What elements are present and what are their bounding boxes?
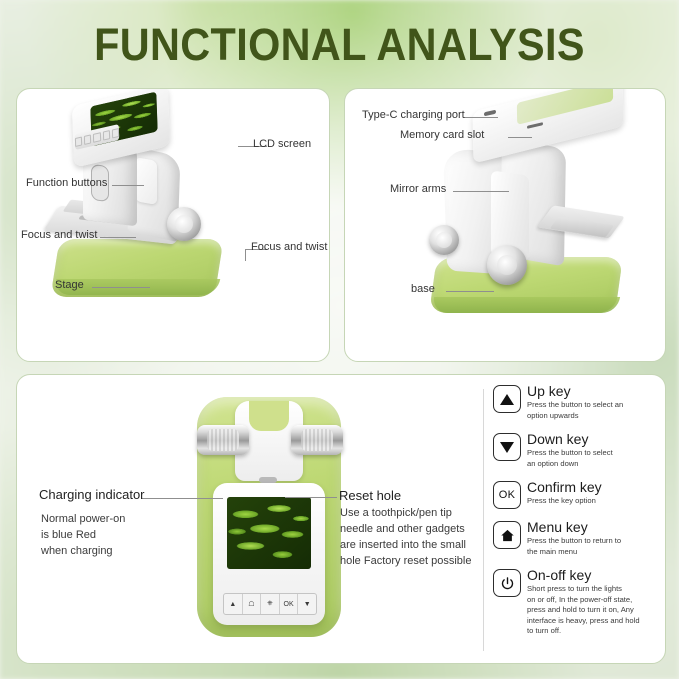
callout-lcd-screen: LCD screen [253,138,311,150]
function-button [102,130,110,141]
leader-line-focus-left [100,237,136,238]
leader-line-base [446,291,494,292]
legend-name-up-key: Up key [527,383,623,399]
legend-text-on-off-key: On-off key Short press to turn the light… [527,567,640,637]
legend-desc-line: Press the button to return to [527,536,621,547]
legend-desc-confirm-key: Press the key option [527,496,602,507]
callout-function-buttons: Function buttons [26,177,107,189]
charging-indicator-title: Charging indicator [39,487,145,502]
charging-indicator-body: Normal power-on is blue Red when chargin… [41,511,125,559]
ok-icon: OK [493,481,521,509]
callout-focus-and-twist-left: Focus and twist [21,229,97,241]
legend-desc-line: press and hold to turn it on, Any [527,605,640,616]
legend-desc-line: Press the button to select an [527,400,623,411]
callout-base: base [411,283,435,295]
legend-text-confirm-key: Confirm key Press the key option [527,479,602,507]
panel-front-view-and-keys: ▲ ☖ ⎈ OK ▼ Charging indicator Normal pow… [16,374,666,664]
microscope-front-illustration: ▲ ☖ ⎈ OK ▼ [191,397,347,643]
legend-name-down-key: Down key [527,431,613,447]
device-home-button: ☖ [243,594,262,614]
callout-stage: Stage [55,279,84,291]
legend-desc-menu-key: Press the button to return to the main m… [527,536,621,557]
device-focus-knob-left [197,425,249,455]
leader-line-reset-hole [285,497,337,498]
device-arm-notch [249,401,289,431]
device-base-shadow [432,297,620,313]
power-icon [493,569,521,597]
legend-desc-line: option upwards [527,411,623,422]
legend-name-menu-key: Menu key [527,519,621,535]
triangle-down-icon [493,433,521,461]
device-up-button: ▲ [224,594,243,614]
legend-desc-line: interface is heavy, press and hold [527,616,640,627]
reset-line-2: needle and other gadgets [340,521,471,537]
device-lcd-screen [227,497,311,569]
device-ok-button: OK [280,594,299,614]
legend-desc-line: an option down [527,459,613,470]
leader-line-stage [92,287,150,288]
reset-hole-body: Use a toothpick/pen tip needle and other… [340,505,471,569]
device-focus-knob-right [291,425,343,455]
key-legend: Up key Press the button to select an opt… [493,385,663,653]
function-button [75,136,83,147]
function-button [112,127,120,138]
legend-desc-up-key: Press the button to select an option upw… [527,400,623,421]
device-down-button: ▼ [298,594,316,614]
device-arm-plate [135,157,157,205]
device-power-button: ⎈ [261,594,280,614]
page-title: FUNCTIONAL ANALYSIS [27,19,652,71]
legend-text-menu-key: Menu key Press the button to return to t… [527,519,621,557]
reset-line-1: Use a toothpick/pen tip [340,505,471,521]
device-focus-knob [167,207,201,241]
leader-line-function-buttons [112,185,144,186]
legend-desc-down-key: Press the button to select an option dow… [527,448,613,469]
charging-line-2: is blue Red [41,527,125,543]
leader-line-type-c [464,117,498,118]
charging-line-1: Normal power-on [41,511,125,527]
leader-line-mirror-arms [453,191,509,192]
leader-line-charging-indicator [141,498,223,499]
callout-focus-and-twist-right: Focus and twist [251,241,327,253]
charging-line-3: when charging [41,543,125,559]
triangle-up-icon [493,385,521,413]
legend-text-down-key: Down key Press the button to select an o… [527,431,613,469]
callout-mirror-arms: Mirror arms [390,183,446,195]
callout-type-c-charging-port: Type-C charging port [362,109,465,121]
leader-line-focus-right-stem [245,249,246,261]
leader-line-memory-card [508,137,532,138]
panel-rear-view: Type-C charging port Memory card slot Mi… [344,88,666,362]
legend-desc-line: to turn off. [527,626,640,637]
legend-desc-line: Press the key option [527,496,602,507]
reset-line-3: are inserted into the small [340,537,471,553]
legend-desc-line: Short press to turn the lights [527,584,640,595]
legend-name-on-off-key: On-off key [527,567,640,583]
legend-desc-line: the main menu [527,547,621,558]
lcd-specimen-image [227,497,311,569]
function-button [93,132,101,143]
callout-memory-card-slot: Memory card slot [400,129,484,141]
device-focus-knob-front [487,245,527,285]
panel-three-quarter-view: LCD screen Function buttons Focus and tw… [16,88,330,362]
legend-desc-line: Press the button to select [527,448,613,459]
legend-name-confirm-key: Confirm key [527,479,602,495]
function-button [84,134,92,145]
legend-desc-line: on or off, In the power-off state, [527,595,640,606]
reset-hole-title: Reset hole [339,488,401,503]
legend-desc-on-off-key: Short press to turn the lights on or off… [527,584,640,637]
legend-text-up-key: Up key Press the button to select an opt… [527,383,623,421]
legend-divider [483,389,484,651]
reset-line-4: hole Factory reset possible [340,553,471,569]
device-button-row: ▲ ☖ ⎈ OK ▼ [223,593,317,615]
device-focus-knob-left [429,225,459,255]
home-icon [493,521,521,549]
